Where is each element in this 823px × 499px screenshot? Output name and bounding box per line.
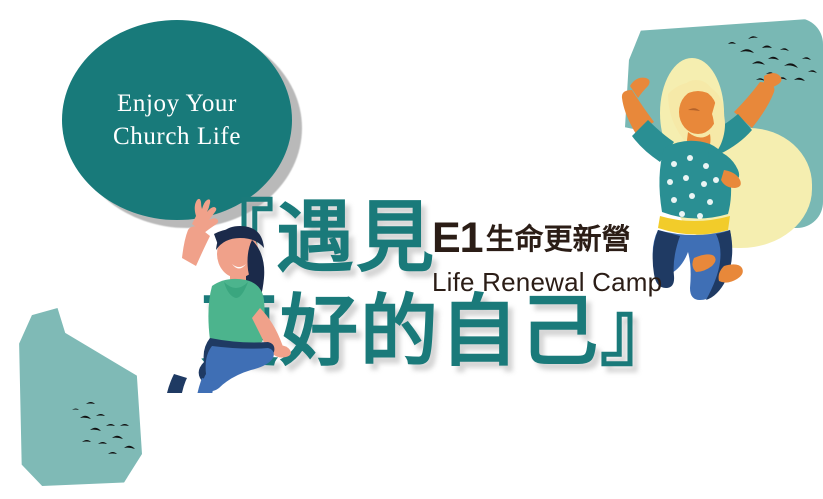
speech-bubble-line-1: Enjoy Your [117, 87, 237, 120]
camp-name-chinese: 生命更新營 [486, 221, 631, 260]
speech-bubble-line-2: Church Life [113, 120, 241, 153]
seated-woman-figure [152, 178, 312, 393]
camp-name-row: E1 生命更新營 [432, 216, 647, 260]
birds-bottom-left-icon [66, 396, 156, 472]
camp-name-english: Life Renewal Camp [432, 266, 647, 298]
camp-name-block: E1 生命更新營 Life Renewal Camp [432, 216, 647, 298]
banner-canvas: Enjoy Your Church Life 『遇見 更好的自己』 [0, 0, 823, 499]
camp-code: E1 [432, 216, 483, 260]
